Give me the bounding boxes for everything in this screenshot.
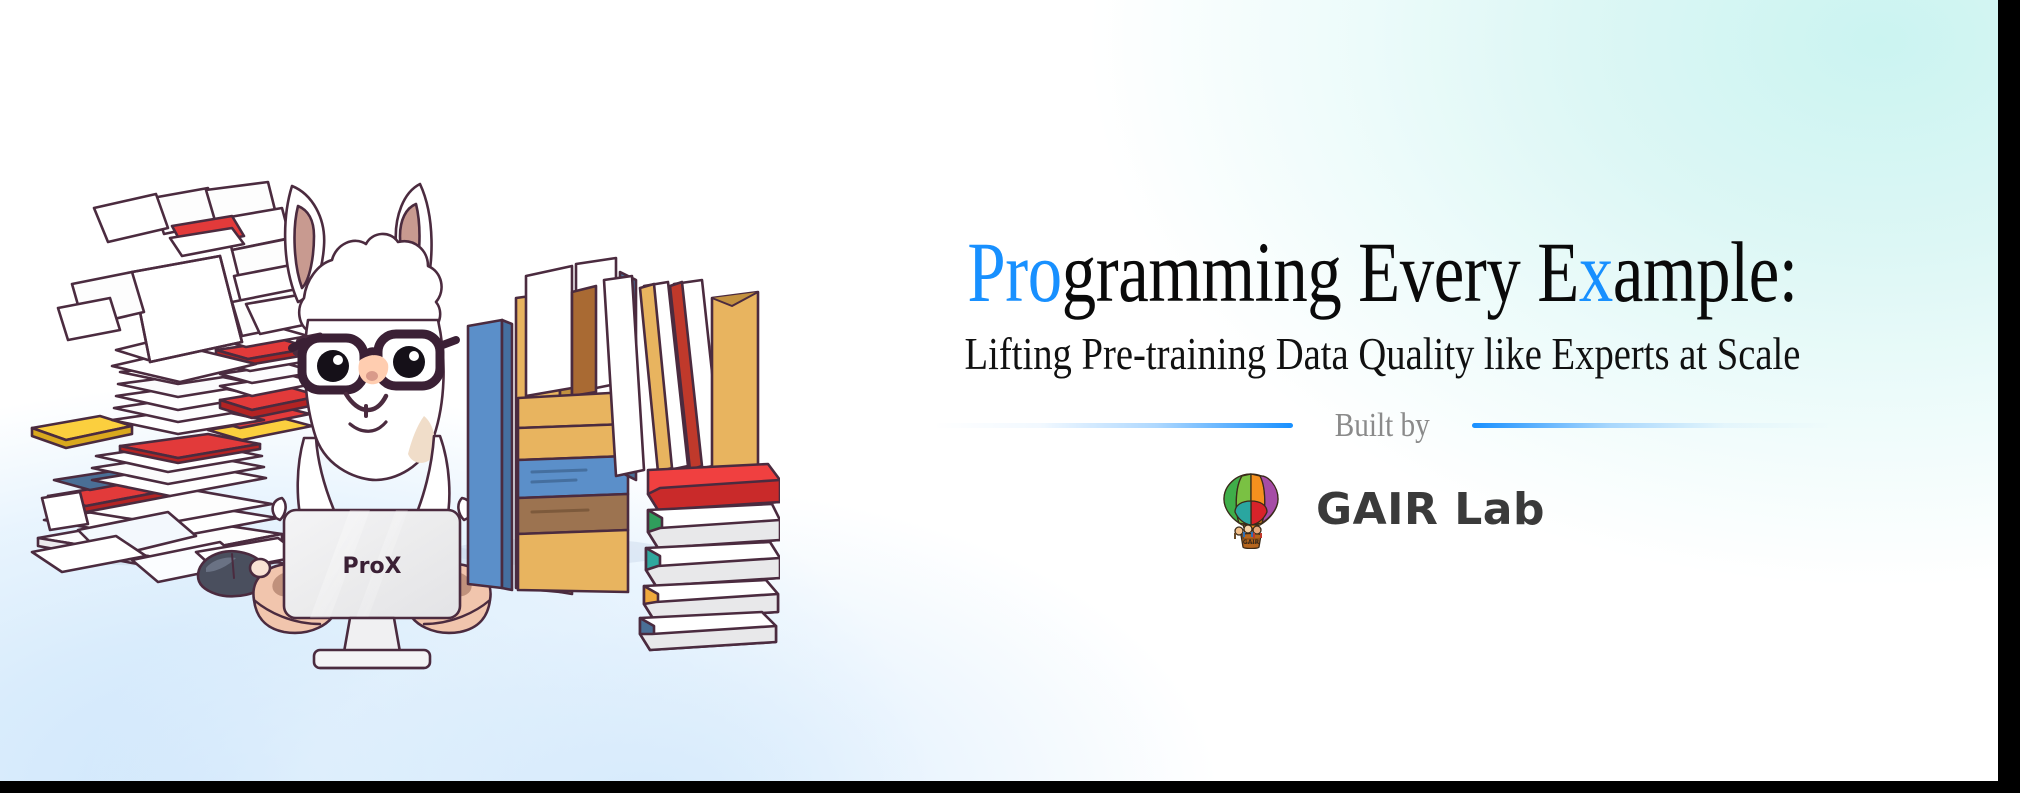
built-by-label: Built by <box>1306 407 1460 445</box>
divider-line-left <box>933 423 1293 428</box>
page-subtitle: Lifting Pre-training Data Quality like E… <box>889 330 1876 378</box>
divider-line-right <box>1472 423 1832 428</box>
frame-border-bottom <box>0 781 2020 793</box>
frame-border-right <box>1998 0 2020 793</box>
book-stack-icon <box>468 258 780 650</box>
laptop-icon: ProX <box>284 510 460 668</box>
hero-text-block: Programming Every Example: Lifting Pre-t… <box>795 230 1970 549</box>
organization-row[interactable]: GAIR GAIR Lab <box>795 471 1970 549</box>
title-segment-1: gramming Every E <box>1062 224 1579 320</box>
hot-air-balloon-icon: GAIR <box>1220 471 1282 549</box>
title-segment-0: Pro <box>967 224 1061 320</box>
title-segment-2: x <box>1579 224 1613 320</box>
hero-illustration: ProX <box>20 180 780 740</box>
balloon-basket-label: GAIR <box>1243 539 1260 546</box>
title-segment-3: ample: <box>1613 224 1798 320</box>
organization-name: GAIR Lab <box>1316 484 1545 535</box>
hero-banner: ProX <box>0 0 2020 793</box>
built-by-divider: Built by <box>795 407 1970 445</box>
page-canvas: ProX <box>0 0 1998 781</box>
laptop-screen-label: ProX <box>342 554 401 579</box>
page-title: Programming Every Example: <box>913 230 1853 314</box>
